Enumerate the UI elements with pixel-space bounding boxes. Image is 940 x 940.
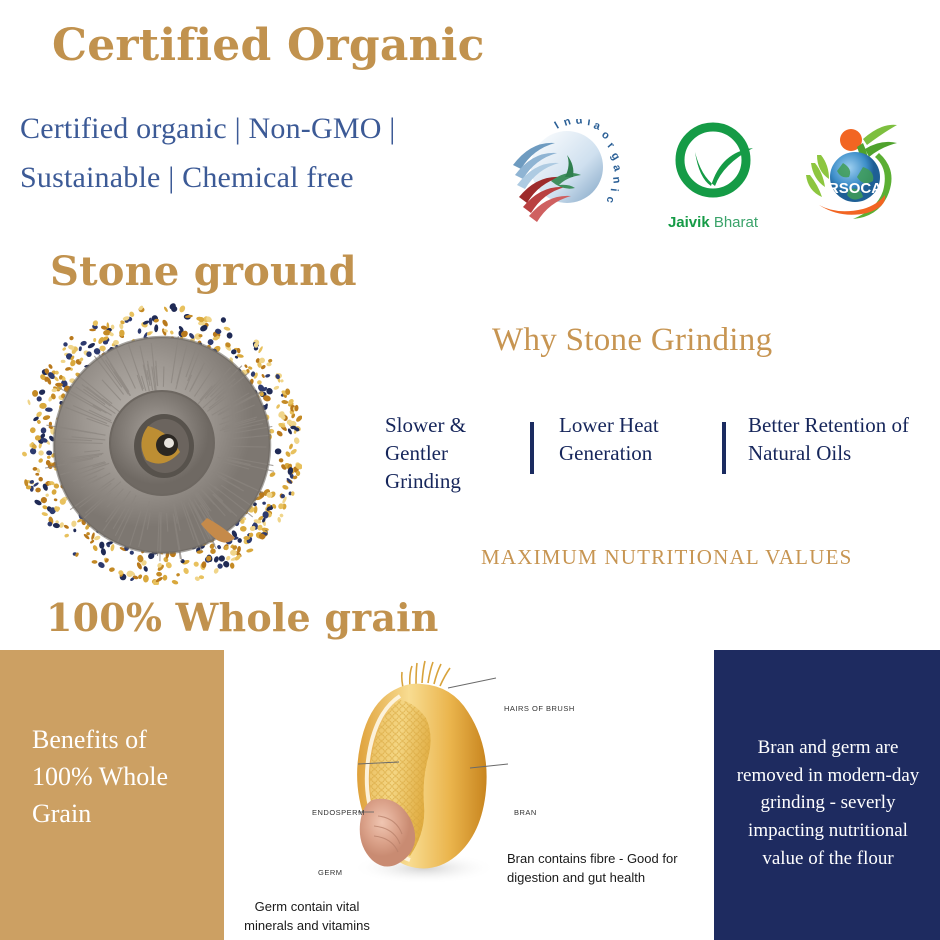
jaivik-bharat-badge: Jaivik Bharat xyxy=(665,116,761,231)
svg-text:RSOCA: RSOCA xyxy=(828,180,882,197)
svg-text:o: o xyxy=(599,129,612,143)
wheat-kernel-illustration xyxy=(224,650,714,940)
stone-grinding-wheel-image xyxy=(22,300,302,585)
benefit-divider-2 xyxy=(722,422,726,474)
svg-text:a: a xyxy=(610,163,624,173)
benefits-panel: Benefits of 100% Whole Grain xyxy=(0,650,224,940)
rsoca-icon: RSOCA xyxy=(801,119,909,227)
svg-text:I: I xyxy=(553,120,562,132)
svg-text:c: c xyxy=(604,195,617,204)
benefits-panel-heading: Benefits of 100% Whole Grain xyxy=(32,722,207,833)
wheat-kernel-diagram-panel: HAIRS OF BRUSH ENDOSPERM BRAN GERM Bran … xyxy=(224,650,714,940)
svg-text:n: n xyxy=(562,119,572,129)
kernel-label-bran: BRAN xyxy=(514,808,537,817)
svg-text:d: d xyxy=(575,119,583,127)
why-stone-grinding-benefits: Slower & Gentler Grinding Lower Heat Gen… xyxy=(385,412,940,512)
why-stone-grinding-title: Why Stone Grinding xyxy=(492,322,772,359)
kernel-label-hairs-of-brush: HAIRS OF BRUSH xyxy=(504,704,575,713)
infographic-page: Certified Organic Certified organic | No… xyxy=(0,0,940,940)
jaivik-bharat-icon xyxy=(665,116,761,212)
page-title-stone-ground: Stone ground xyxy=(50,250,357,293)
jaivik-bharat-label: Jaivik Bharat xyxy=(668,214,758,231)
kernel-note-bran: Bran contains fibre - Good for digestion… xyxy=(507,850,687,888)
svg-text:g: g xyxy=(608,151,622,163)
modern-grinding-panel: Bran and germ are removed in modern-day … xyxy=(714,650,940,940)
benefit-divider-1 xyxy=(530,422,534,474)
maximum-nutritional-values-text: MAXIMUM NUTRITIONAL VALUES xyxy=(481,545,852,570)
svg-text:i: i xyxy=(587,119,592,128)
benefit-item-2: Lower Heat Generation xyxy=(559,412,699,468)
modern-grinding-panel-text: Bran and germ are removed in modern-day … xyxy=(732,734,924,873)
india-organic-badge: I n d i a o r g a n i c xyxy=(505,119,625,227)
kernel-label-germ: GERM xyxy=(318,868,343,877)
svg-text:r: r xyxy=(605,140,617,152)
page-title-whole-grain: 100% Whole grain xyxy=(46,598,439,638)
page-title-certified-organic: Certified Organic xyxy=(52,22,485,70)
svg-text:i: i xyxy=(608,188,620,192)
india-organic-icon: I n d i a o r g a n i c xyxy=(505,119,625,227)
benefit-item-3: Better Retention of Natural Oils xyxy=(748,412,918,468)
rsoca-badge: RSOCA xyxy=(801,119,909,227)
svg-text:a: a xyxy=(592,119,602,133)
kernel-label-endosperm: ENDOSPERM xyxy=(312,808,365,817)
svg-text:n: n xyxy=(610,176,623,184)
certified-organic-subtitle: Certified organic | Non-GMO | Sustainabl… xyxy=(20,105,490,202)
certification-badges: I n d i a o r g a n i c xyxy=(505,108,935,238)
benefit-item-1: Slower & Gentler Grinding xyxy=(385,412,505,496)
kernel-note-germ: Germ contain vital minerals and vitamins xyxy=(232,898,382,936)
